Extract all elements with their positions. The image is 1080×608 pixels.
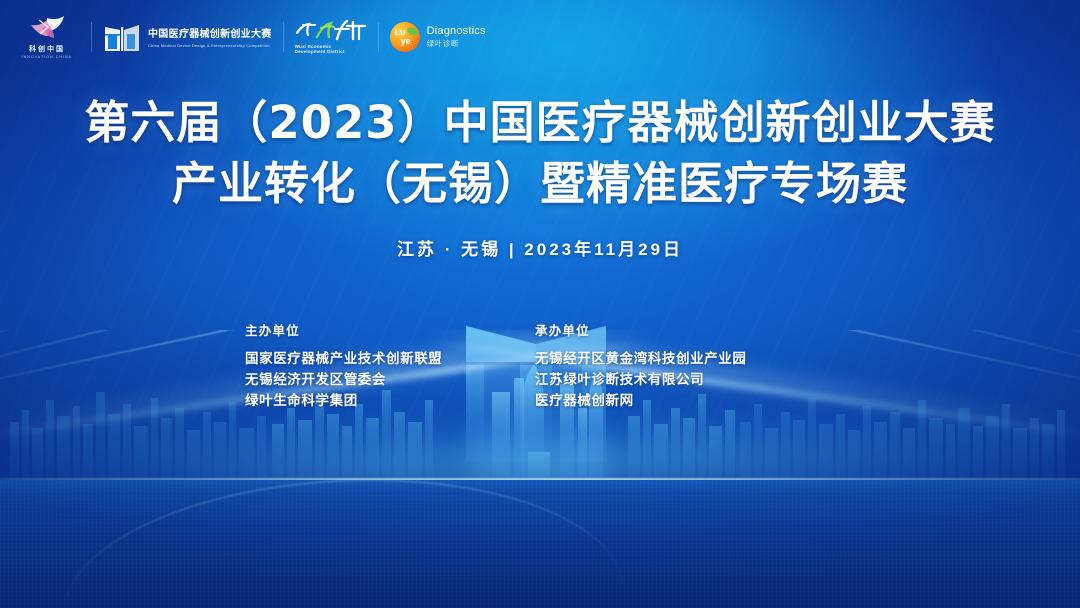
poster-title-block: 第六届（2023）中国医疗器械创新创业大赛 产业转化（无锡）暨精准医疗专场赛 江… — [0, 92, 1080, 260]
title-line-1: 第六届（2023）中国医疗器械创新创业大赛 — [0, 92, 1080, 153]
logo-china-medical-device-competition: 中国医疗器械创新创业大赛 China Medical Device Design… — [103, 21, 272, 53]
logo-kechuang-china: 科创中国 INNOVATION CHINA — [14, 14, 80, 59]
wuxi-calligraphy-icon — [295, 19, 367, 41]
luye-badge-ye: ye — [401, 37, 411, 46]
butterfly-mark-icon — [27, 14, 67, 42]
logo-cmd-cn: 中国医疗器械创新创业大赛 — [148, 25, 272, 40]
event-location-date: 江苏 · 无锡 | 2023年11月29日 — [0, 235, 1080, 260]
sponsor-logo-bar: 科创中国 INNOVATION CHINA 中国医疗器械创新创业大赛 China… — [14, 14, 486, 59]
logo-luye-en: Diagnostics — [427, 25, 486, 37]
logo-divider — [91, 22, 92, 52]
logo-wuxi-economic-development-district: Wuxi Economic Development District — [295, 19, 367, 54]
logo-cmd-en: China Medical Device Design & Entreprene… — [148, 43, 272, 48]
host-item: 绿叶生命科学集团 — [245, 390, 535, 411]
logo-luye-diagnostics: Lu ye Diagnostics 绿叶诊断 — [390, 22, 486, 52]
logo-luye-cn: 绿叶诊断 — [427, 38, 486, 49]
cohost-heading: 承办单位 — [535, 320, 835, 339]
logo-kechuang-china-cn: 科创中国 — [29, 44, 65, 54]
organizer-section: 主办单位 国家医疗器械产业技术创新联盟 无锡经济开发区管委会 绿叶生命科学集团 … — [0, 320, 1080, 411]
cohost-item: 无锡经开区黄金湾科技创业产业园 — [535, 348, 835, 369]
logo-kechuang-china-en: INNOVATION CHINA — [22, 55, 73, 59]
host-heading: 主办单位 — [245, 320, 535, 339]
host-organizer-column: 主办单位 国家医疗器械产业技术创新联盟 无锡经济开发区管委会 绿叶生命科学集团 — [245, 320, 535, 411]
cohost-item: 江苏绿叶诊断技术有限公司 — [535, 369, 835, 390]
host-item: 国家医疗器械产业技术创新联盟 — [245, 348, 535, 369]
cohost-organizer-column: 承办单位 无锡经开区黄金湾科技创业产业园 江苏绿叶诊断技术有限公司 医疗器械创新… — [535, 320, 835, 411]
logo-wuxi-en-line2: Development District — [295, 49, 345, 54]
title-line-2: 产业转化（无锡）暨精准医疗专场赛 — [0, 153, 1080, 214]
leaf-icon — [406, 25, 417, 36]
host-item: 无锡经济开发区管委会 — [245, 369, 535, 390]
logo-divider — [378, 22, 379, 52]
logo-divider — [283, 22, 284, 52]
open-book-mark-icon — [103, 21, 141, 53]
event-poster: 科创中国 INNOVATION CHINA 中国医疗器械创新创业大赛 China… — [0, 0, 1080, 608]
luye-circle-icon: Lu ye — [390, 22, 420, 52]
cohost-item: 医疗器械创新网 — [535, 390, 835, 411]
